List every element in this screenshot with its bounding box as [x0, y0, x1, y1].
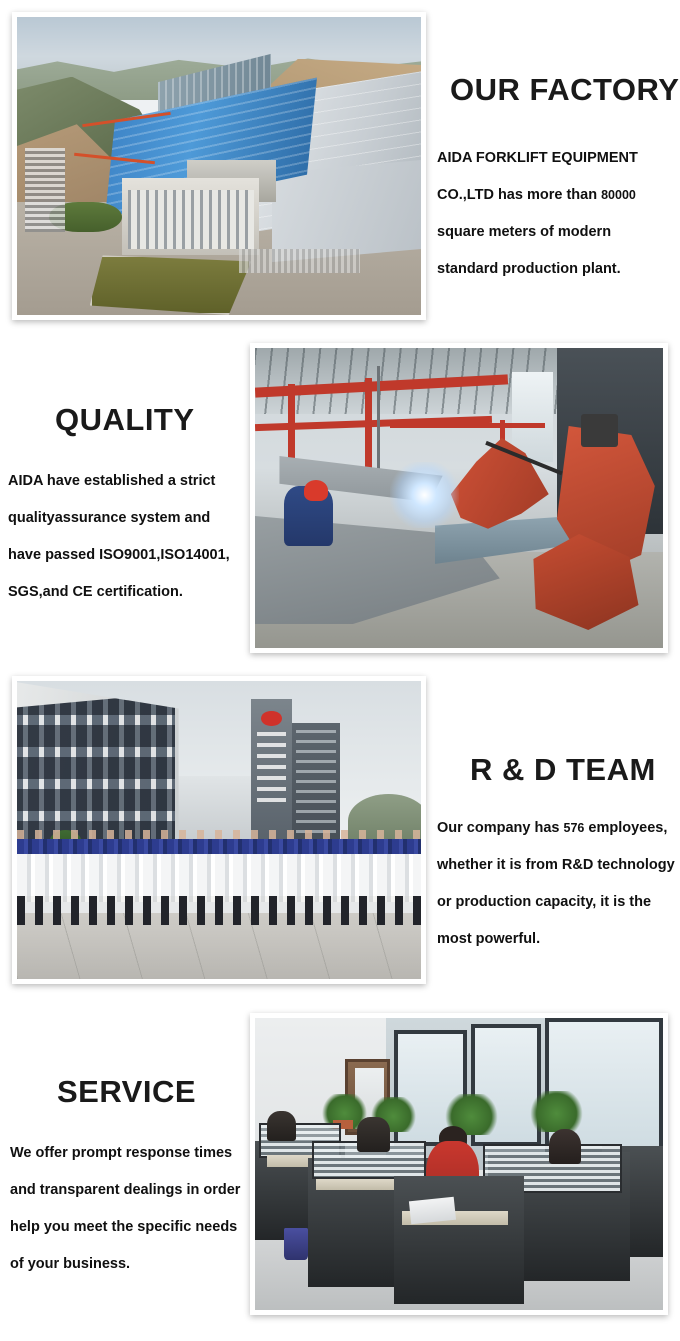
waste-bin — [284, 1228, 308, 1260]
quality-description: AIDA have established a strict qualityas… — [8, 463, 248, 611]
office-building — [122, 178, 259, 255]
quality-line-3: have passed ISO9001,ISO14001, — [8, 537, 248, 574]
heading-our-factory: OUR FACTORY — [450, 72, 679, 108]
heading-rd-team: R & D TEAM — [470, 752, 656, 788]
red-column-2 — [365, 378, 372, 480]
employee-3 — [549, 1129, 582, 1164]
front-row-white-shirts — [17, 854, 421, 902]
employee-count-value: 576 — [564, 821, 585, 835]
rd-line-3: or production capacity, it is the — [437, 884, 680, 921]
paper-documents — [409, 1197, 456, 1225]
factory-line-3: square meters of modern — [437, 214, 677, 251]
heading-service: SERVICE — [57, 1074, 196, 1110]
factory-description: AIDA FORKLIFT EQUIPMENT CO.,LTD has more… — [437, 140, 677, 288]
factory-line-1: AIDA FORKLIFT EQUIPMENT — [437, 140, 677, 177]
rd-line-2: whether it is from R&D technology — [437, 847, 680, 884]
robot-controller-box — [581, 414, 618, 447]
hoist-chain — [377, 366, 380, 480]
service-line-3: help you meet the specific needs — [10, 1209, 250, 1246]
quality-line-1: AIDA have established a strict — [8, 463, 248, 500]
factory-line-4: standard production plant. — [437, 251, 677, 288]
heading-quality: QUALITY — [55, 402, 195, 438]
workshop-window — [512, 372, 553, 462]
red-safety-helmet — [304, 480, 328, 501]
service-line-2: and transparent dealings in order — [10, 1172, 250, 1209]
water-reservoir — [90, 255, 252, 315]
factory-line-2: CO.,LTD has more than 80000 — [437, 177, 677, 214]
employee-2 — [357, 1117, 390, 1152]
quality-line-2: qualityassurance system and — [8, 500, 248, 537]
rd-line-1: Our company has 576 employees, — [437, 810, 680, 847]
rd-team-description: Our company has 576 employees, whether i… — [437, 810, 680, 958]
employee-4 — [267, 1111, 296, 1140]
quality-line-4: SGS,and CE certification. — [8, 574, 248, 611]
front-row-trousers — [17, 896, 421, 926]
rd-line-4: most powerful. — [437, 921, 680, 958]
factory-area-value: 80000 — [601, 188, 636, 202]
parking-lot — [239, 249, 360, 273]
company-profile-page: OUR FACTORY AIDA FORKLIFT EQUIPMENT CO.,… — [0, 0, 680, 1341]
parked-vehicles — [25, 148, 65, 231]
office-workspace-photo — [250, 1013, 668, 1315]
factory-aerial-photo — [12, 12, 426, 320]
crane-beam-3 — [390, 423, 545, 428]
company-logo-mark — [261, 711, 281, 726]
service-description: We offer prompt response times and trans… — [10, 1135, 250, 1283]
service-line-4: of your business. — [10, 1246, 250, 1283]
cubicle-3 — [394, 1176, 525, 1304]
team-group-photo — [12, 676, 426, 984]
service-line-1: We offer prompt response times — [10, 1135, 250, 1172]
potted-plant-4 — [528, 1091, 585, 1132]
welding-arc-flash — [390, 462, 459, 528]
vertical-signage-characters — [257, 732, 285, 809]
welding-workshop-photo — [250, 343, 668, 653]
